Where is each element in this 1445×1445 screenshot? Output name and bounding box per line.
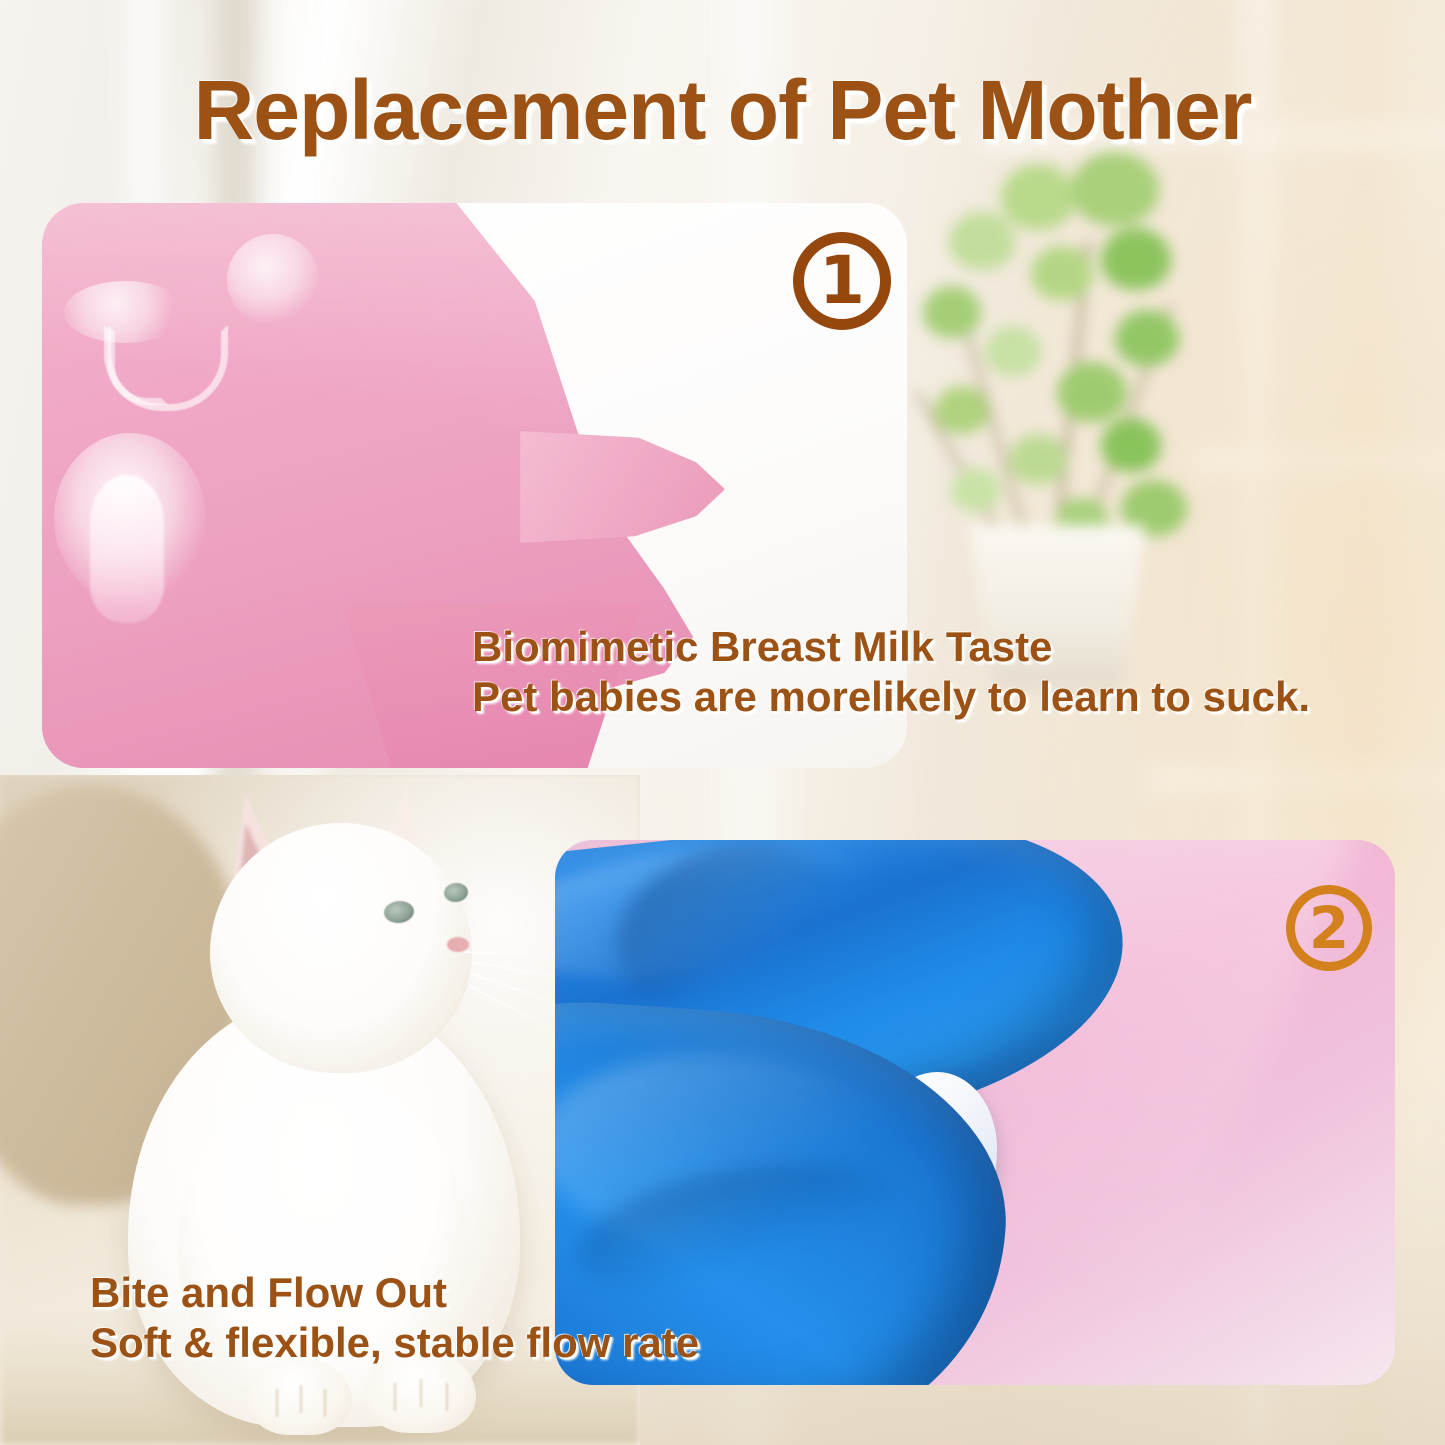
teat-white-bulb [90,475,164,623]
step-number-badge-2: 2 [1286,885,1372,971]
potted-plant [905,150,1265,690]
step-number-badge-1: 1 [793,232,891,330]
feature-2-subheading: Soft & flexible, stable flow rate [90,1318,699,1368]
cat-whisker [470,985,552,1030]
cat-paw-left [248,1359,352,1435]
feature-1-heading: Biomimetic Breast Milk Taste [472,622,1310,672]
feature-1-text-block: Biomimetic Breast Milk Taste Pet babies … [472,622,1310,721]
feature-2-heading: Bite and Flow Out [90,1268,699,1318]
teat-highlight-dot [227,234,319,326]
cat-whisker [464,951,552,956]
feature-1-subheading: Pet babies are morelikely to learn to su… [472,672,1310,722]
cat-head [210,823,472,1073]
page-title: Replacement of Pet Mother [0,62,1445,159]
cat-nose [447,937,469,952]
feature-2-text-block: Bite and Flow Out Soft & flexible, stabl… [90,1268,699,1367]
product-infographic: 1 2 Replacement of Pet Mother Biomimetic… [0,0,1445,1445]
